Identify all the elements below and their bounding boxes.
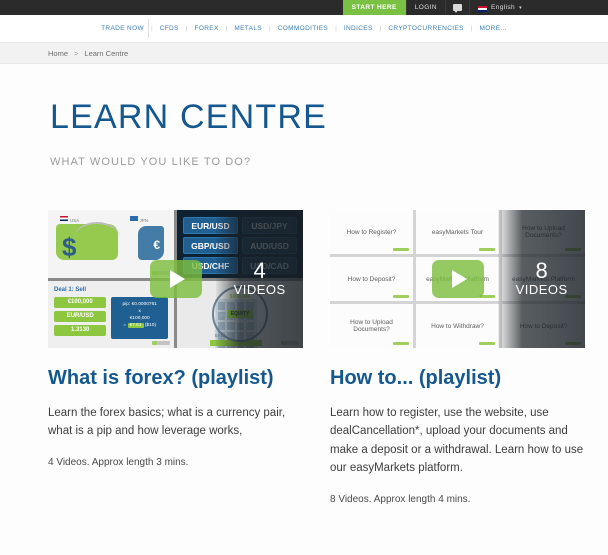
card-description-how-to: Learn how to register, use the website, … xyxy=(330,404,585,479)
pair-gbp-usd: GBP/USD xyxy=(183,237,238,254)
live-chat-button[interactable] xyxy=(445,0,469,15)
deal-pair: EUR/USD xyxy=(54,311,106,322)
pip-result-suffix: ($10) xyxy=(144,323,157,328)
equity-sublabel: HOME xyxy=(233,319,248,325)
us-flag-icon xyxy=(60,216,68,221)
collage-cell-label: How to Upload Documents? xyxy=(330,319,413,333)
collage-cell-label: How to Deposit? xyxy=(517,323,571,330)
card-description-forex: Learn the forex basics; what is a curren… xyxy=(48,404,303,441)
equity-donut: $100,000 8% EQUITY HOME xyxy=(212,286,268,342)
nav-item-cryptocurrencies[interactable]: CRYPTOCURRENCIES xyxy=(381,25,470,32)
usa-label: USA xyxy=(70,218,79,223)
pip-line-1: pip: €0.0000761 xyxy=(113,301,166,308)
play-icon[interactable] xyxy=(432,260,484,298)
nav-item-trade-now[interactable]: TRADE NOW xyxy=(94,25,151,32)
pip-result-value: €7.61 xyxy=(128,323,144,328)
pair-aud-usd: AUD/USD xyxy=(242,237,297,254)
nav-list: TRADE NOW | CFDS | FOREX | METALS | COMM… xyxy=(94,25,514,32)
breadcrumb-home[interactable]: Home xyxy=(48,49,68,58)
playlist-card-grid: $ € USA JPN EUR/USD xyxy=(0,168,608,505)
pair-usd-jpy: USD/JPY xyxy=(242,217,297,234)
collage-cell: How to Upload Documents? xyxy=(330,304,413,348)
collage-cell-label: easyMarkets Tour xyxy=(429,229,486,236)
jp-flag-icon xyxy=(130,216,138,221)
collage-cell: How to Upload Documents? xyxy=(502,210,585,254)
nav-divider xyxy=(148,19,149,38)
breadcrumb: Home > Learn Centre xyxy=(0,43,608,64)
euro-symbol: € xyxy=(153,238,160,252)
collage-cell-label: How to Deposit? xyxy=(345,276,399,283)
login-button[interactable]: LOGIN xyxy=(406,0,445,15)
collage-cell: easyMarkets Tour xyxy=(416,210,499,254)
nav-item-metals[interactable]: METALS xyxy=(227,25,269,32)
main-content: LEARN CENTRE WHAT WOULD YOU LIKE TO DO? … xyxy=(0,64,608,554)
main-navigation: TRADE NOW | CFDS | FOREX | METALS | COMM… xyxy=(0,15,608,43)
collage-cell-label: How to Register? xyxy=(344,229,400,236)
nav-item-more[interactable]: MORE... xyxy=(473,25,514,32)
collage-cell: easyMarkets Platform xyxy=(502,257,585,301)
language-selector[interactable]: English ▾ xyxy=(469,0,530,15)
collage-cell: How to Deposit? xyxy=(502,304,585,348)
chat-icon xyxy=(453,4,462,11)
pip-formula-box: pip: €0.0000761 x €100,000 = €7.61 ($10) xyxy=(111,297,168,339)
card-meta-how-to: 8 Videos. Approx length 4 mins. xyxy=(330,494,585,505)
equity-label: EQUITY xyxy=(228,310,253,318)
collage-cell: How to Deposit? xyxy=(330,257,413,301)
collage-cell-label: How to Withdraw? xyxy=(428,323,487,330)
pair-eur-usd: EUR/USD xyxy=(183,217,238,234)
dollar-symbol: $ xyxy=(62,232,76,263)
breadcrumb-separator: > xyxy=(74,49,78,58)
playlist-card-how-to: How to Register? easyMarkets Tour How to… xyxy=(330,210,585,505)
collage-cell: How to Withdraw? xyxy=(416,304,499,348)
collage-cell-label: easyMarkets Platform xyxy=(509,276,578,283)
jpn-label: JPN xyxy=(139,218,148,223)
card-title-forex[interactable]: What is forex? (playlist) xyxy=(48,366,303,392)
nav-item-forex[interactable]: FOREX xyxy=(188,25,226,32)
nav-item-commodities[interactable]: COMMODITIES xyxy=(271,25,335,32)
collage-cell: How to Register? xyxy=(330,210,413,254)
pip-result-prefix: = xyxy=(123,323,127,328)
flag-icon xyxy=(478,6,487,12)
page-root: START HERE LOGIN English ▾ TRADE NOW | C… xyxy=(0,0,608,555)
playlist-card-what-is-forex: $ € USA JPN EUR/USD xyxy=(48,210,303,505)
utility-topbar: START HERE LOGIN English ▾ xyxy=(0,0,608,15)
play-icon[interactable] xyxy=(150,260,202,298)
pip-result: = €7.61 ($10) xyxy=(113,322,166,329)
start-here-button[interactable]: START HERE xyxy=(343,0,406,15)
equity-total: $100,000 xyxy=(230,294,251,300)
video-thumbnail-forex[interactable]: $ € USA JPN EUR/USD xyxy=(48,210,303,348)
card-meta-forex: 4 Videos. Approx length 3 mins. xyxy=(48,457,303,468)
collage-cell-label: How to Upload Documents? xyxy=(502,225,585,239)
page-subtitle: WHAT WOULD YOU LIKE TO DO? xyxy=(50,156,608,168)
equity-percent: 8% xyxy=(220,313,227,318)
pair-usd-cad: USD/CAD xyxy=(242,257,297,274)
pip-line-2: x xyxy=(113,308,166,315)
chevron-down-icon: ▾ xyxy=(519,5,522,11)
card-title-how-to[interactable]: How to... (playlist) xyxy=(330,366,585,392)
brand-watermark xyxy=(152,341,170,345)
nav-item-indices[interactable]: INDICES xyxy=(337,25,380,32)
page-heading-group: LEARN CENTRE WHAT WOULD YOU LIKE TO DO? xyxy=(0,64,608,168)
language-label: English xyxy=(491,4,515,11)
deal-rate: 1.3130 xyxy=(54,325,106,336)
japan-shape xyxy=(138,226,164,260)
page-title: LEARN CENTRE xyxy=(50,100,608,134)
brand-watermark xyxy=(281,341,299,345)
deal-amount: €100,000 xyxy=(54,297,106,308)
breadcrumb-current: Learn Centre xyxy=(84,49,128,58)
video-thumbnail-how-to[interactable]: How to Register? easyMarkets Tour How to… xyxy=(330,210,585,348)
nav-item-cfds[interactable]: CFDS xyxy=(153,25,186,32)
pip-line-3: €100,000 xyxy=(113,315,166,322)
